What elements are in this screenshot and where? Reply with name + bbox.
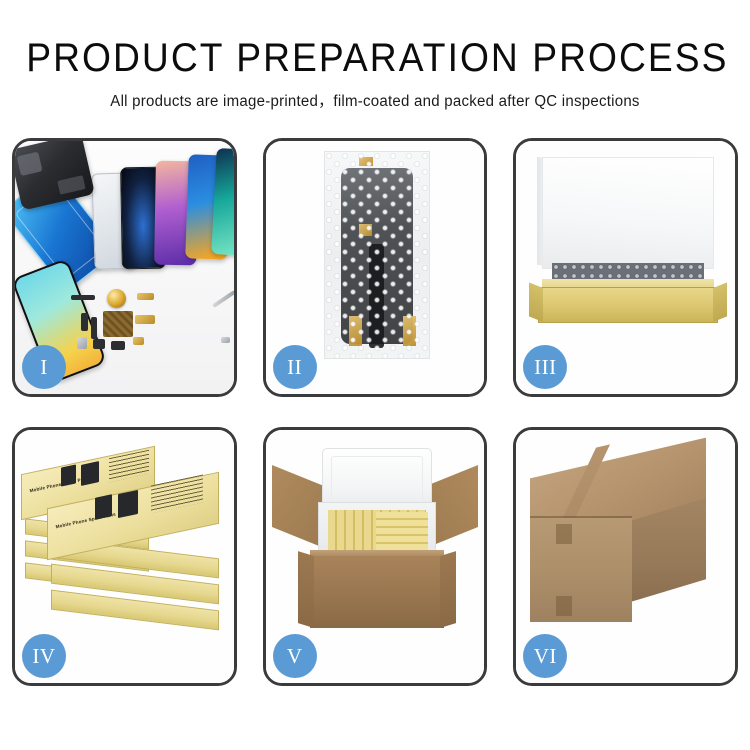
- antenna-part-icon: [81, 313, 88, 331]
- step-panel-4: Mobile Phone Spare Parts Mobile Phone Sp…: [12, 427, 237, 686]
- page-header: PRODUCT PREPARATION PROCESS All products…: [0, 36, 750, 111]
- box-thumbnail-icon: [81, 461, 99, 486]
- connector-part-icon: [135, 315, 155, 324]
- box-thumbnail-icon: [61, 464, 76, 486]
- vibrator-part-icon: [111, 341, 125, 350]
- sim-tray-part-icon: [77, 337, 87, 349]
- shipping-carton-open-icon: [310, 556, 444, 628]
- camera-module-part-icon: [93, 339, 105, 349]
- step-badge-5: V: [273, 634, 317, 678]
- kraft-box-front-icon: [538, 287, 718, 323]
- step-panel-1: I: [12, 138, 237, 397]
- step-panel-5: V: [263, 427, 488, 686]
- process-steps-grid: I II: [12, 138, 738, 686]
- speaker-part-icon: [71, 295, 95, 300]
- logic-board-part-icon: [103, 311, 133, 337]
- button-flex-part-icon: [91, 317, 97, 339]
- step-badge-2: II: [273, 345, 317, 389]
- carton-top-edge: [530, 516, 632, 518]
- step-panel-3: III: [513, 138, 738, 397]
- flex-cable-part-icon: [137, 293, 154, 300]
- box-thumbnail-icon: [118, 490, 138, 518]
- white-box-lid-icon: [542, 157, 714, 269]
- carton-tape-patch-icon: [556, 596, 572, 616]
- screw-part-icon: [221, 337, 230, 343]
- bubble-texture: [325, 152, 429, 358]
- taptic-motor-part-icon: [107, 289, 126, 308]
- carton-front-face-icon: [530, 518, 632, 622]
- step-badge-1: I: [22, 345, 66, 389]
- product-preparation-process-page: PRODUCT PREPARATION PROCESS All products…: [0, 0, 750, 750]
- bubble-wrap-bag-icon: [324, 151, 430, 359]
- step-badge-4: IV: [22, 634, 66, 678]
- screw-set-part-icon: [133, 337, 144, 345]
- box-thumbnail-icon: [95, 494, 112, 520]
- step-panel-2: II: [263, 138, 488, 397]
- carton-tape-patch-icon: [556, 524, 572, 544]
- step-badge-6: VI: [523, 634, 567, 678]
- step-badge-3: III: [523, 345, 567, 389]
- page-subtitle: All products are image-printed，film-coat…: [11, 89, 739, 111]
- page-title: PRODUCT PREPARATION PROCESS: [26, 36, 724, 81]
- step-panel-6: VI: [513, 427, 738, 686]
